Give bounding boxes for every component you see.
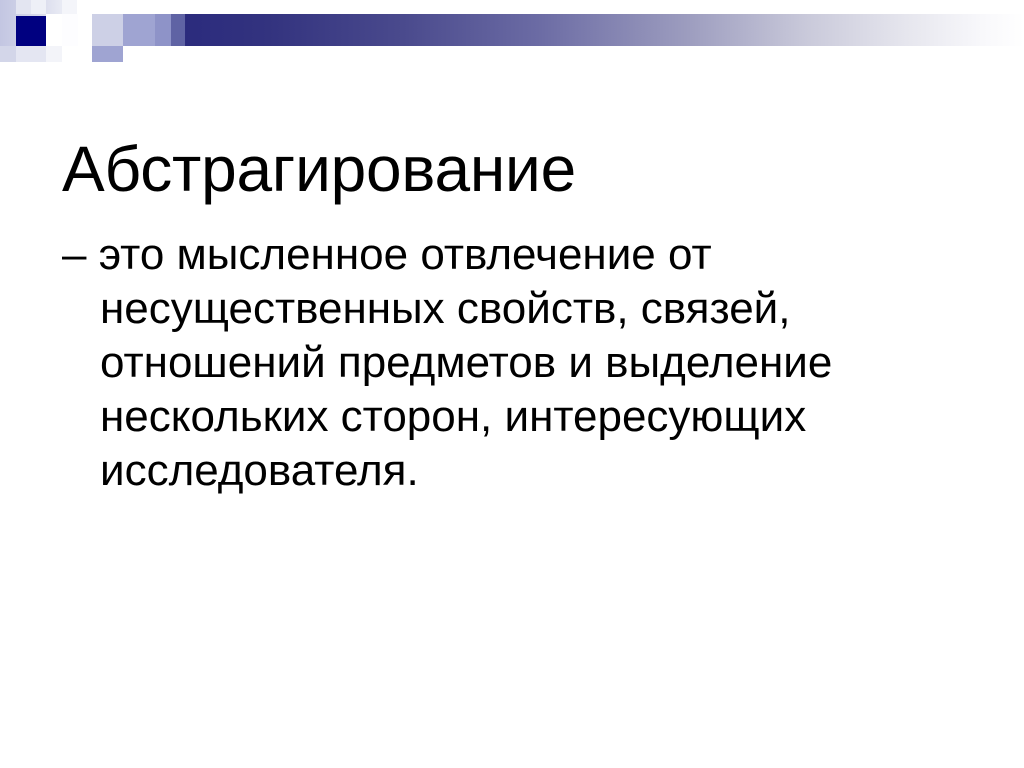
decorative-square	[92, 62, 123, 78]
decorative-square	[31, 0, 46, 14]
page-title: Абстрагирование	[62, 131, 962, 207]
decorative-square	[78, 14, 92, 46]
decorative-square	[46, 46, 62, 62]
decorative-square	[123, 0, 139, 14]
slide-canvas: Абстрагирование – это мысленное отвлечен…	[0, 0, 1024, 768]
decorative-square	[155, 14, 171, 46]
decorative-square	[16, 0, 31, 14]
decorative-square	[139, 0, 155, 14]
decorative-square	[123, 46, 139, 62]
decorative-square	[62, 46, 92, 62]
body-line: отношений предметов и выделение	[62, 336, 942, 390]
body-line: несущественных свойств, связей,	[62, 282, 942, 336]
decorative-square	[92, 0, 123, 14]
decorative-header-banner	[0, 0, 1024, 100]
decorative-square	[155, 0, 171, 14]
decorative-square	[123, 14, 155, 46]
decorative-square	[92, 46, 123, 62]
decorative-square	[62, 14, 78, 46]
body-line: нескольких сторон, интересующих	[62, 390, 942, 444]
body-text-block: – это мысленное отвлечение от несуществе…	[62, 228, 942, 498]
decorative-square	[0, 62, 92, 78]
decorative-square	[62, 0, 77, 14]
decorative-square	[16, 46, 46, 62]
body-line: исследователя.	[62, 444, 942, 498]
decorative-square	[92, 14, 123, 46]
decorative-square	[171, 14, 185, 46]
body-line: – это мысленное отвлечение от	[62, 228, 942, 282]
decorative-square	[0, 46, 16, 62]
decorative-square	[16, 16, 46, 46]
gradient-bar	[185, 14, 1024, 46]
decorative-square	[171, 0, 187, 14]
decorative-square	[46, 14, 62, 46]
decorative-square	[139, 46, 155, 62]
